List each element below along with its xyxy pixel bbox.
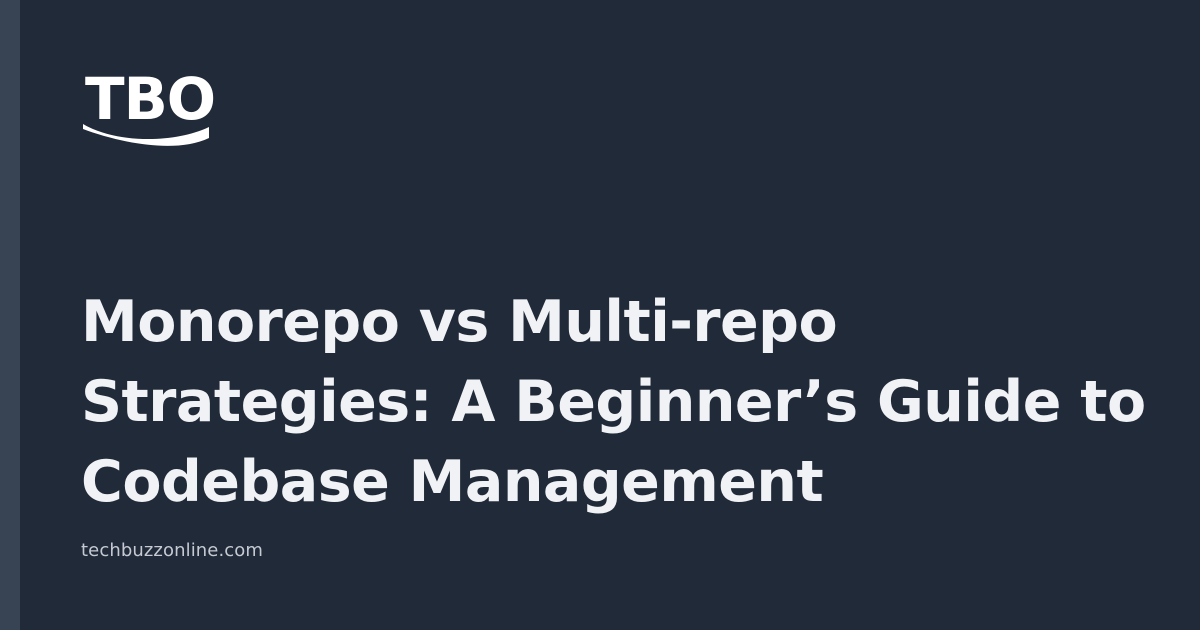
title-line-3: Codebase Management <box>81 442 1121 522</box>
brand-logo: TBO <box>81 70 321 146</box>
social-share-card: TBO Monorepo vs Multi-repo Strategies: A… <box>0 0 1200 630</box>
page-title: Monorepo vs Multi-repo Strategies: A Beg… <box>81 282 1121 522</box>
title-line-1: Monorepo vs Multi-repo <box>81 282 1121 362</box>
swoosh-underline-icon <box>81 114 211 146</box>
title-line-2: Strategies: A Beginner’s Guide to <box>81 362 1121 442</box>
site-url-label: techbuzzonline.com <box>81 540 263 562</box>
left-accent-strip <box>0 0 20 630</box>
